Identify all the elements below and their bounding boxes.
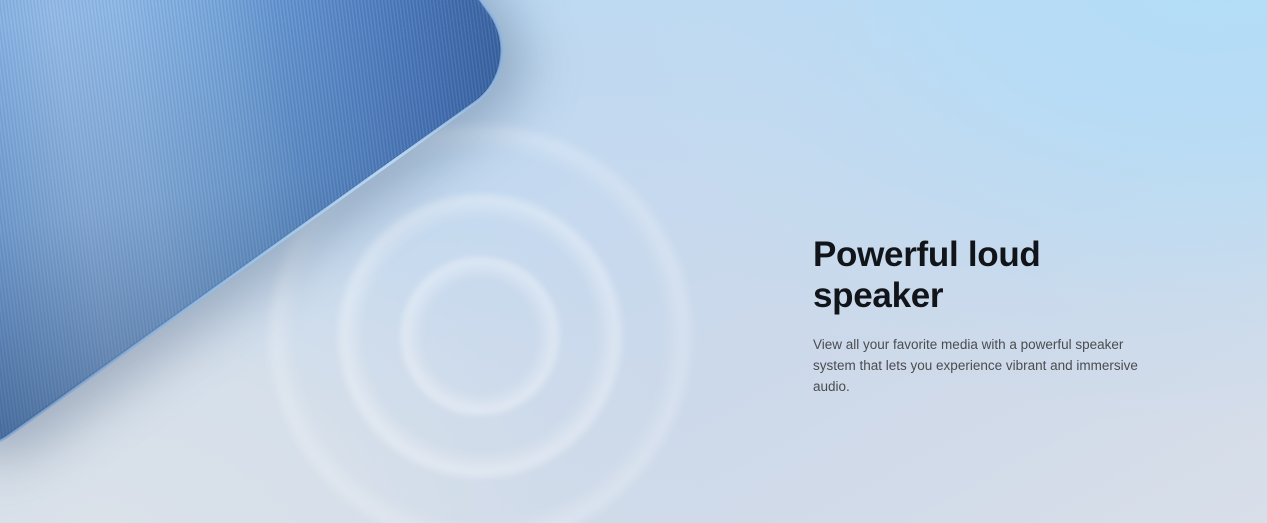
soundwave-inner-ring xyxy=(401,257,559,415)
feature-headline: Powerful loud speaker xyxy=(813,234,1159,316)
feature-description: View all your favorite media with a powe… xyxy=(813,334,1149,397)
feature-copy-block: Powerful loud speaker View all your favo… xyxy=(813,234,1159,397)
feature-banner: Powerful loud speaker View all your favo… xyxy=(0,0,1267,523)
phone-product-image xyxy=(0,0,527,472)
soundwave-middle-ring xyxy=(339,195,621,477)
